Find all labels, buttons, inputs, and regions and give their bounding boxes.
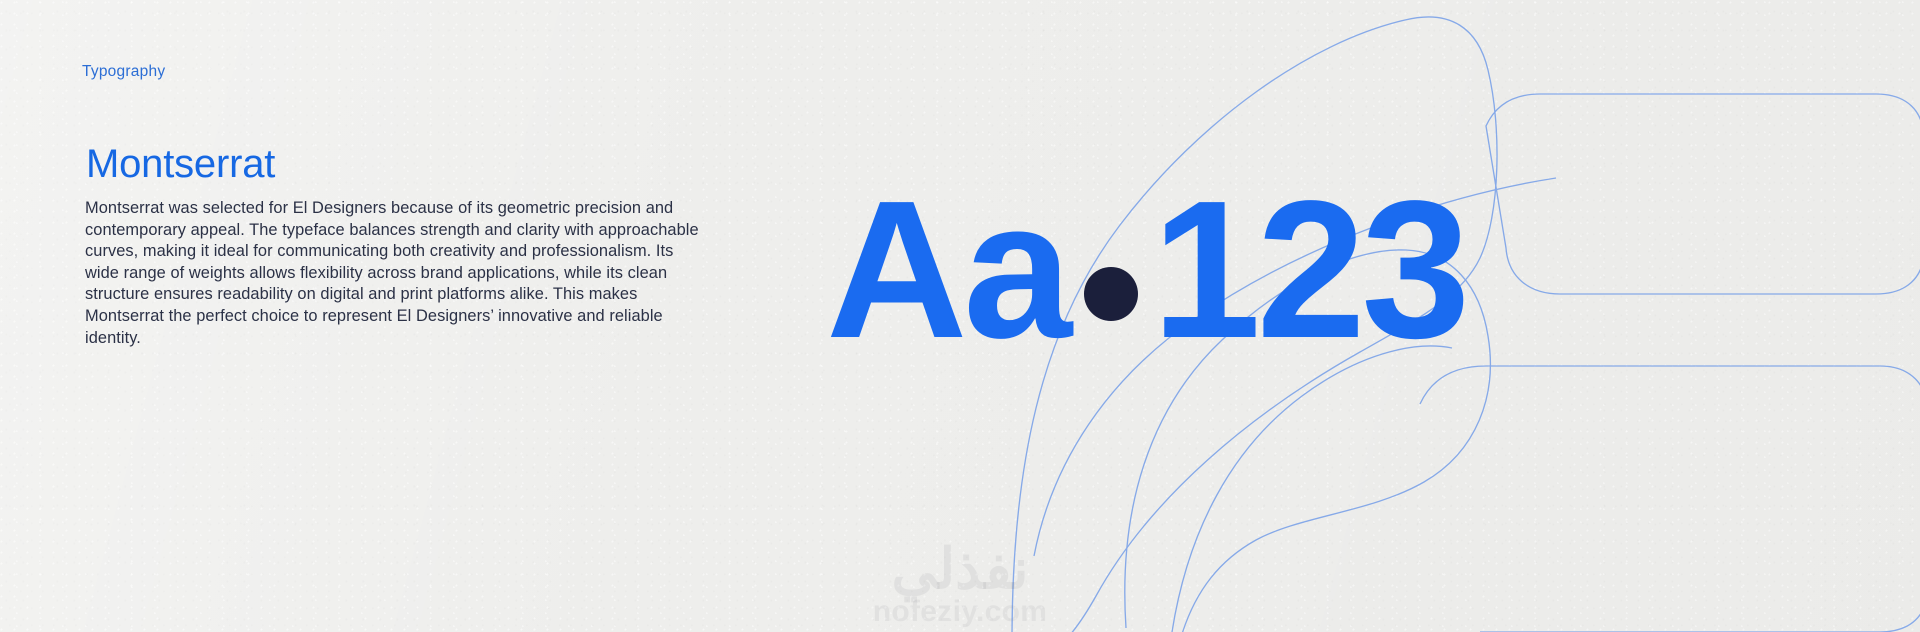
type-specimen: Aa 123 <box>826 172 1466 368</box>
specimen-dot-icon <box>1084 267 1138 321</box>
specimen-letters: Aa <box>826 172 1068 368</box>
typeface-description: Montserrat was selected for El Designers… <box>85 198 710 349</box>
section-label: Typography <box>82 63 165 81</box>
page-title: Montserrat <box>86 142 275 187</box>
typography-content-column: Typography Montserrat Montserrat was sel… <box>82 0 742 632</box>
specimen-numerals: 123 <box>1152 172 1466 368</box>
